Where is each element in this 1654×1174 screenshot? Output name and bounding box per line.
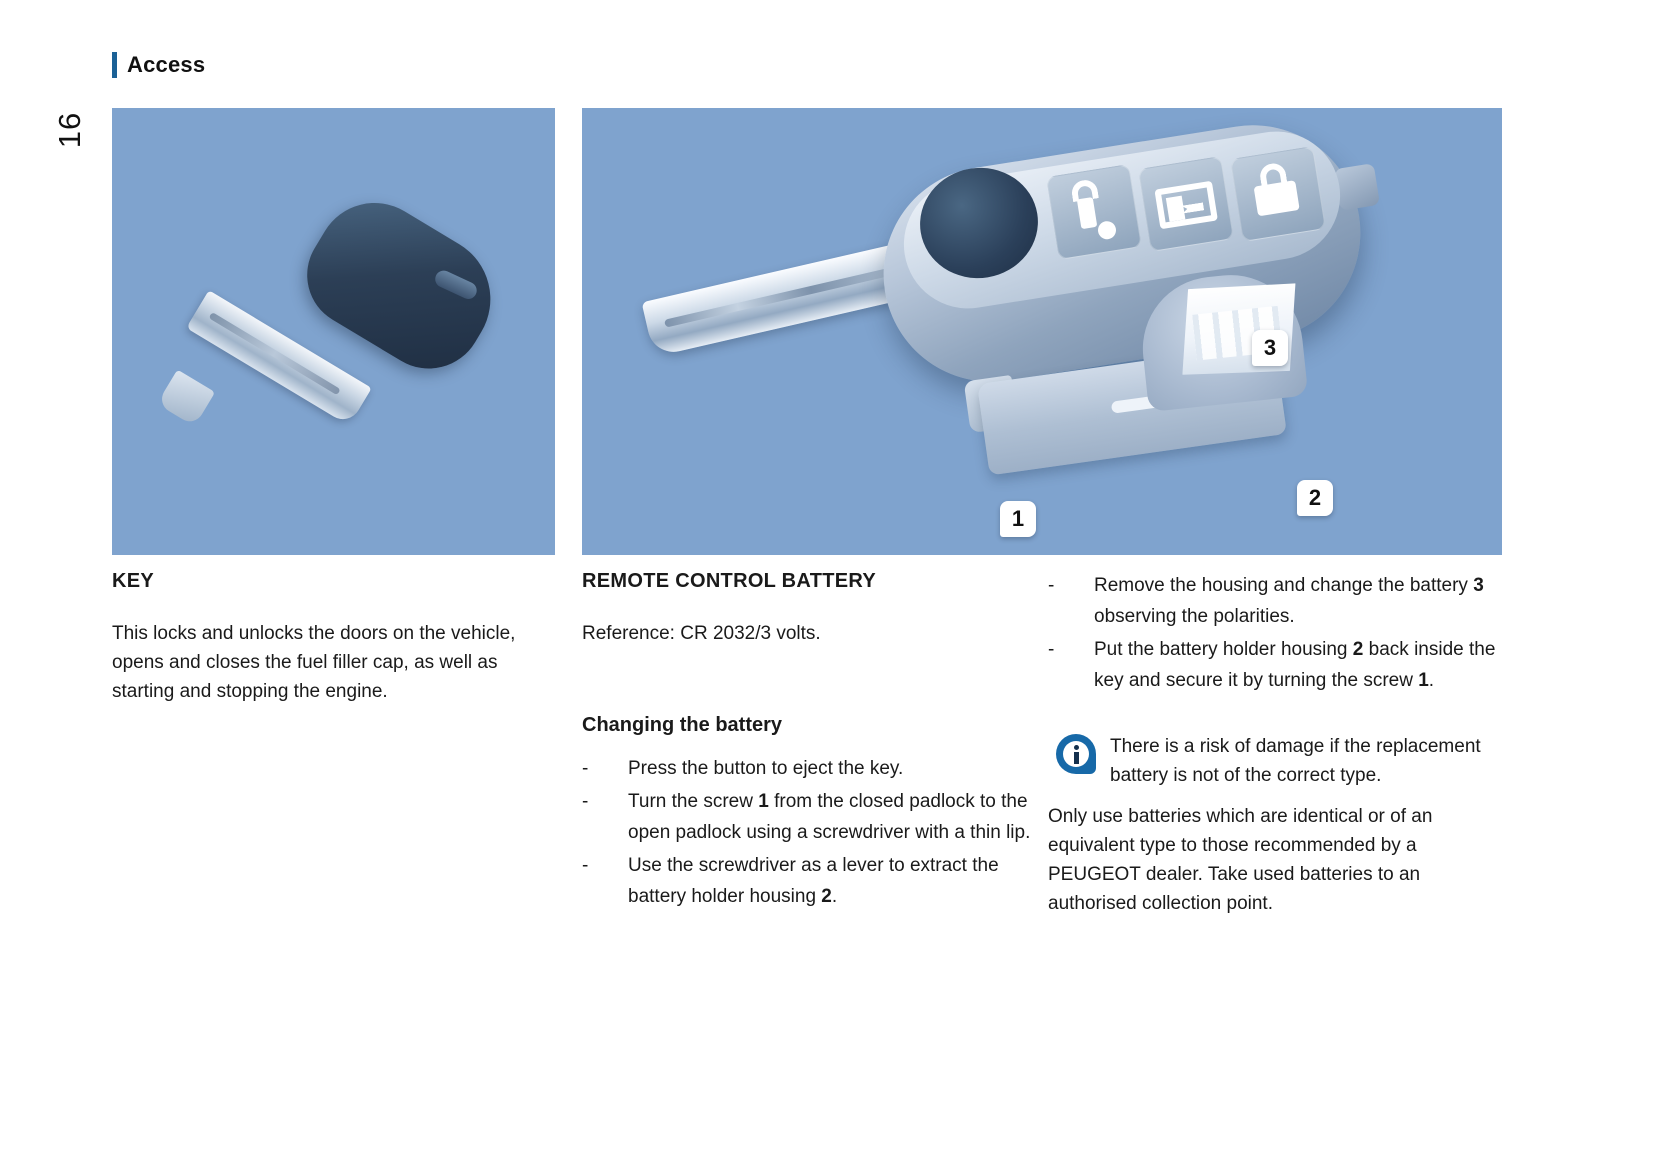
list-item-ref-number: 1 (758, 791, 769, 812)
list-item: - Turn the screw 1 from the closed padlo… (582, 786, 1037, 848)
column-remote-battery: REMOTE CONTROL BATTERY Reference: CR 203… (582, 570, 1037, 914)
remote-button-unlock (1046, 164, 1142, 260)
dash-marker: - (582, 786, 588, 817)
column-battery-continued: - Remove the housing and change the batt… (1048, 570, 1503, 918)
spacer (582, 662, 1037, 714)
column-key: KEY This locks and unlocks the doors on … (112, 570, 552, 720)
battery-reference: Reference: CR 2032/3 volts. (582, 619, 1037, 648)
page-header: Access (112, 52, 205, 78)
changing-battery-steps-continued: - Remove the housing and change the batt… (1048, 570, 1503, 696)
header-accent-bar (112, 52, 117, 78)
dash-marker: - (1048, 634, 1054, 665)
dash-marker: - (582, 753, 588, 784)
key-tip-shape (157, 370, 215, 427)
list-item-ref-number: 2 (821, 886, 832, 907)
dash-marker: - (582, 850, 588, 881)
page-title: Access (127, 52, 205, 78)
subsection-title-changing-battery: Changing the battery (582, 714, 1037, 737)
battery-shape (1174, 278, 1305, 382)
remote-control-illustration: 1 2 3 (582, 108, 1502, 555)
list-item: - Press the button to eject the key. (582, 753, 1037, 784)
list-item-text-post: . (832, 886, 837, 907)
remote-button-door (1138, 156, 1234, 252)
changing-battery-steps: - Press the button to eject the key. - T… (582, 753, 1037, 912)
remote-button-lock (1230, 146, 1326, 242)
remote-tail-shape (1334, 163, 1380, 211)
dash-marker: - (1048, 570, 1054, 601)
list-item-ref-number: 2 (1353, 639, 1364, 660)
callout-badge-1: 1 (1000, 501, 1036, 537)
open-padlock-icon (1066, 176, 1121, 244)
info-note-text: There is a risk of damage if the replace… (1110, 732, 1503, 790)
closed-padlock-icon (1248, 159, 1307, 228)
info-note: There is a risk of damage if the replace… (1048, 732, 1503, 790)
list-item: - Remove the housing and change the batt… (1048, 570, 1503, 632)
list-item-text-end: . (1429, 670, 1434, 691)
key-description: This locks and unlocks the doors on the … (112, 619, 552, 706)
spacer (1048, 698, 1503, 732)
info-icon (1056, 734, 1096, 774)
list-item-text-pre: Use the screwdriver as a lever to extrac… (628, 855, 999, 907)
key-illustration (112, 108, 555, 555)
list-item-ref-number-2: 1 (1418, 670, 1429, 691)
list-item-text-post: observing the polarities. (1094, 606, 1295, 627)
list-item-text-pre: Remove the housing and change the batter… (1094, 575, 1473, 596)
callout-badge-3: 3 (1252, 330, 1288, 366)
section-title-key: KEY (112, 570, 552, 593)
section-title-remote-battery: REMOTE CONTROL BATTERY (582, 570, 1037, 593)
list-item: - Put the battery holder housing 2 back … (1048, 634, 1503, 696)
list-item-ref-number: 3 (1473, 575, 1484, 596)
list-item-text-pre: Put the battery holder housing (1094, 639, 1353, 660)
list-item: - Use the screwdriver as a lever to extr… (582, 850, 1037, 912)
page-number: 16 (40, 100, 100, 160)
info-note-body-text: Only use batteries which are identical o… (1048, 802, 1503, 918)
car-door-icon (1154, 181, 1218, 230)
list-item-text-pre: Turn the screw (628, 791, 758, 812)
key-keyring-hole (432, 268, 479, 302)
info-note-body: Only use batteries which are identical o… (1048, 802, 1503, 918)
callout-badge-2: 2 (1297, 480, 1333, 516)
list-item-text: Press the button to eject the key. (628, 758, 903, 779)
manual-page: Access 16 1 (0, 0, 1654, 1174)
